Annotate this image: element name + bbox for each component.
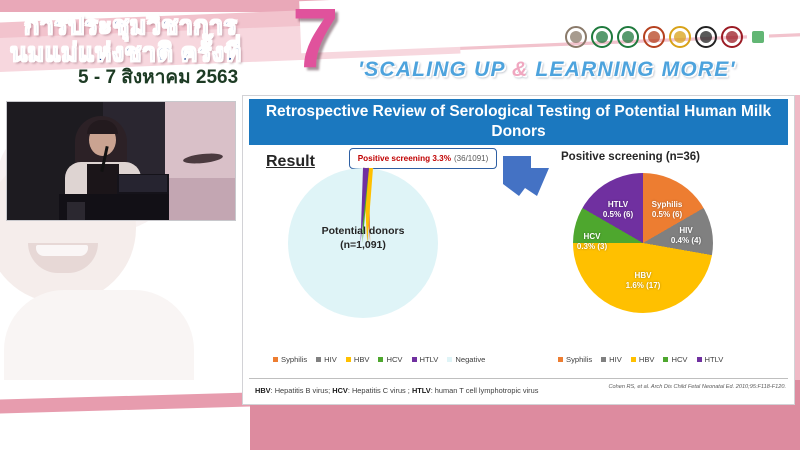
legend2-label-syphilis: Syphilis xyxy=(566,355,592,364)
red-crest-logo xyxy=(721,26,743,48)
pie-label-hcv: HCV 0.3% (3) xyxy=(569,232,615,252)
legend-swatch-hbv xyxy=(346,357,351,362)
presentation-slide: Retrospective Review of Serological Test… xyxy=(243,96,794,404)
logo-core xyxy=(752,31,764,43)
logo-core xyxy=(726,31,738,43)
podium-panel xyxy=(67,202,85,220)
pie-label-hiv-value: 0.4% (4) xyxy=(663,236,709,246)
footnote-meaning-hbv: : Hepatitis B virus; xyxy=(271,386,331,395)
legend-swatch-negative xyxy=(447,357,452,362)
legend2-item-hcv: HCV xyxy=(663,355,687,364)
pie-label-hbv-value: 1.6% (17) xyxy=(615,281,671,291)
legend-label-hbv: HBV xyxy=(354,355,370,364)
positive-screening-pie-title: Positive screening (n=36) xyxy=(561,151,700,163)
legend-label-negative: Negative xyxy=(455,355,485,364)
logo-core xyxy=(622,31,634,43)
blue-down-right-arrow xyxy=(501,154,553,198)
positive-screening-legend: Syphilis HIV HBV HCV HTLV xyxy=(558,355,723,364)
presentation-screen: การประชุมวิชาการ นมแม่แห่งชาติ ครั้งที่ … xyxy=(0,0,800,450)
legend-swatch-syphilis xyxy=(273,357,278,362)
garuda-crest-logo xyxy=(669,26,691,48)
pie-label-syphilis-name: Syphilis xyxy=(641,200,693,210)
projected-baby-shadow xyxy=(165,178,235,220)
legend2-label-hcv: HCV xyxy=(671,355,687,364)
legend2-item-hiv: HIV xyxy=(601,355,622,364)
callout-main-text: Positive screening 3.3% xyxy=(358,154,451,163)
footnote-abbr-hcv: HCV xyxy=(332,386,348,395)
legend2-swatch-hbv xyxy=(631,357,636,362)
legend2-label-hbv: HBV xyxy=(639,355,655,364)
legend-item-htlv: HTLV xyxy=(412,355,439,364)
speaker-webcam-feed[interactable] xyxy=(6,101,236,221)
sponsor-logo-row xyxy=(565,26,769,48)
conference-edition-number: 7 xyxy=(292,0,339,80)
legend2-item-htlv: HTLV xyxy=(697,355,724,364)
footnote-meaning-htlv: : human T cell lymphotropic virus xyxy=(431,386,539,395)
legend-swatch-hiv xyxy=(316,357,321,362)
tagline-ampersand: & xyxy=(512,58,528,81)
tagline-part1: 'SCALING UP xyxy=(358,58,512,81)
callout-sub-text: (36/1091) xyxy=(454,154,488,163)
conference-header: การประชุมวิชาการ นมแม่แห่งชาติ ครั้งที่ … xyxy=(0,0,800,95)
legend2-swatch-hcv xyxy=(663,357,668,362)
footnote-abbreviations: HBV: Hepatitis B virus; HCV: Hepatitis C… xyxy=(255,386,538,395)
royal-crest-logo xyxy=(643,26,665,48)
pie-label-hcv-name: HCV xyxy=(569,232,615,242)
footnote-abbr-htlv: HTLV xyxy=(412,386,431,395)
legend-label-hcv: HCV xyxy=(386,355,402,364)
positive-screening-callout: Positive screening 3.3% (36/1091) xyxy=(349,148,497,169)
legend2-item-hbv: HBV xyxy=(631,355,655,364)
pie-label-hcv-value: 0.3% (3) xyxy=(569,242,615,252)
logo-core xyxy=(648,31,660,43)
legend-item-hiv: HIV xyxy=(316,355,337,364)
pie-label-syphilis-value: 0.5% (6) xyxy=(641,210,693,220)
pie-label-hbv: HBV 1.6% (17) xyxy=(615,271,671,291)
logo-core xyxy=(570,31,582,43)
legend-item-syphilis: Syphilis xyxy=(273,355,307,364)
legend-label-htlv: HTLV xyxy=(420,355,439,364)
slide-title: Retrospective Review of Serological Test… xyxy=(249,99,788,145)
legend-item-hbv: HBV xyxy=(346,355,370,364)
legend-swatch-htlv xyxy=(412,357,417,362)
legend-item-negative: Negative xyxy=(447,355,485,364)
pie-label-hiv: HIV 0.4% (4) xyxy=(663,226,709,246)
footnote-meaning-hcv: : Hepatitis C virus ; xyxy=(348,386,410,395)
pie-label-hbv-name: HBV xyxy=(615,271,671,281)
logo-core xyxy=(700,31,712,43)
legend2-swatch-hiv xyxy=(601,357,606,362)
department-health-logo xyxy=(617,26,639,48)
pie-label-hiv-name: HIV xyxy=(663,226,709,236)
legend2-label-htlv: HTLV xyxy=(705,355,724,364)
legend2-label-hiv: HIV xyxy=(609,355,622,364)
conference-tagline: 'SCALING UP & LEARNING MORE' xyxy=(358,58,736,82)
legend-label-hiv: HIV xyxy=(324,355,337,364)
logo-core xyxy=(596,31,608,43)
logo-core xyxy=(674,31,686,43)
tagline-part2: LEARNING MORE' xyxy=(528,58,735,81)
legend2-swatch-htlv xyxy=(697,357,702,362)
thaihealth-sss-logo xyxy=(747,26,769,48)
pie-label-htlv-value: 0.5% (6) xyxy=(593,210,643,220)
legend2-item-syphilis: Syphilis xyxy=(558,355,592,364)
conference-date: 5 - 7 สิงหาคม 2563 xyxy=(78,62,238,92)
laptop-screen xyxy=(119,175,167,192)
ministry-health-logo xyxy=(591,26,613,48)
legend-swatch-hcv xyxy=(378,357,383,362)
potential-donors-pie-label: Potential donors (n=1,091) xyxy=(288,224,438,252)
potential-donors-title: Potential donors xyxy=(288,224,438,238)
institute-logo xyxy=(695,26,717,48)
legend2-swatch-syphilis xyxy=(558,357,563,362)
legend-label-syphilis: Syphilis xyxy=(281,355,307,364)
pie-label-htlv-name: HTLV xyxy=(593,200,643,210)
pie-label-htlv: HTLV 0.5% (6) xyxy=(593,200,643,220)
royal-emblem-logo xyxy=(565,26,587,48)
result-label: Result xyxy=(266,153,315,171)
legend-item-hcv: HCV xyxy=(378,355,402,364)
potential-donors-subtitle: (n=1,091) xyxy=(288,238,438,252)
slide-citation: Cohen RS, et al. Arch Dis Child Fetal Ne… xyxy=(608,384,786,390)
pie-label-syphilis: Syphilis 0.5% (6) xyxy=(641,200,693,220)
potential-donors-legend: Syphilis HIV HBV HCV HTLV Negative xyxy=(273,355,485,364)
footnote-abbr-hbv: HBV xyxy=(255,386,271,395)
